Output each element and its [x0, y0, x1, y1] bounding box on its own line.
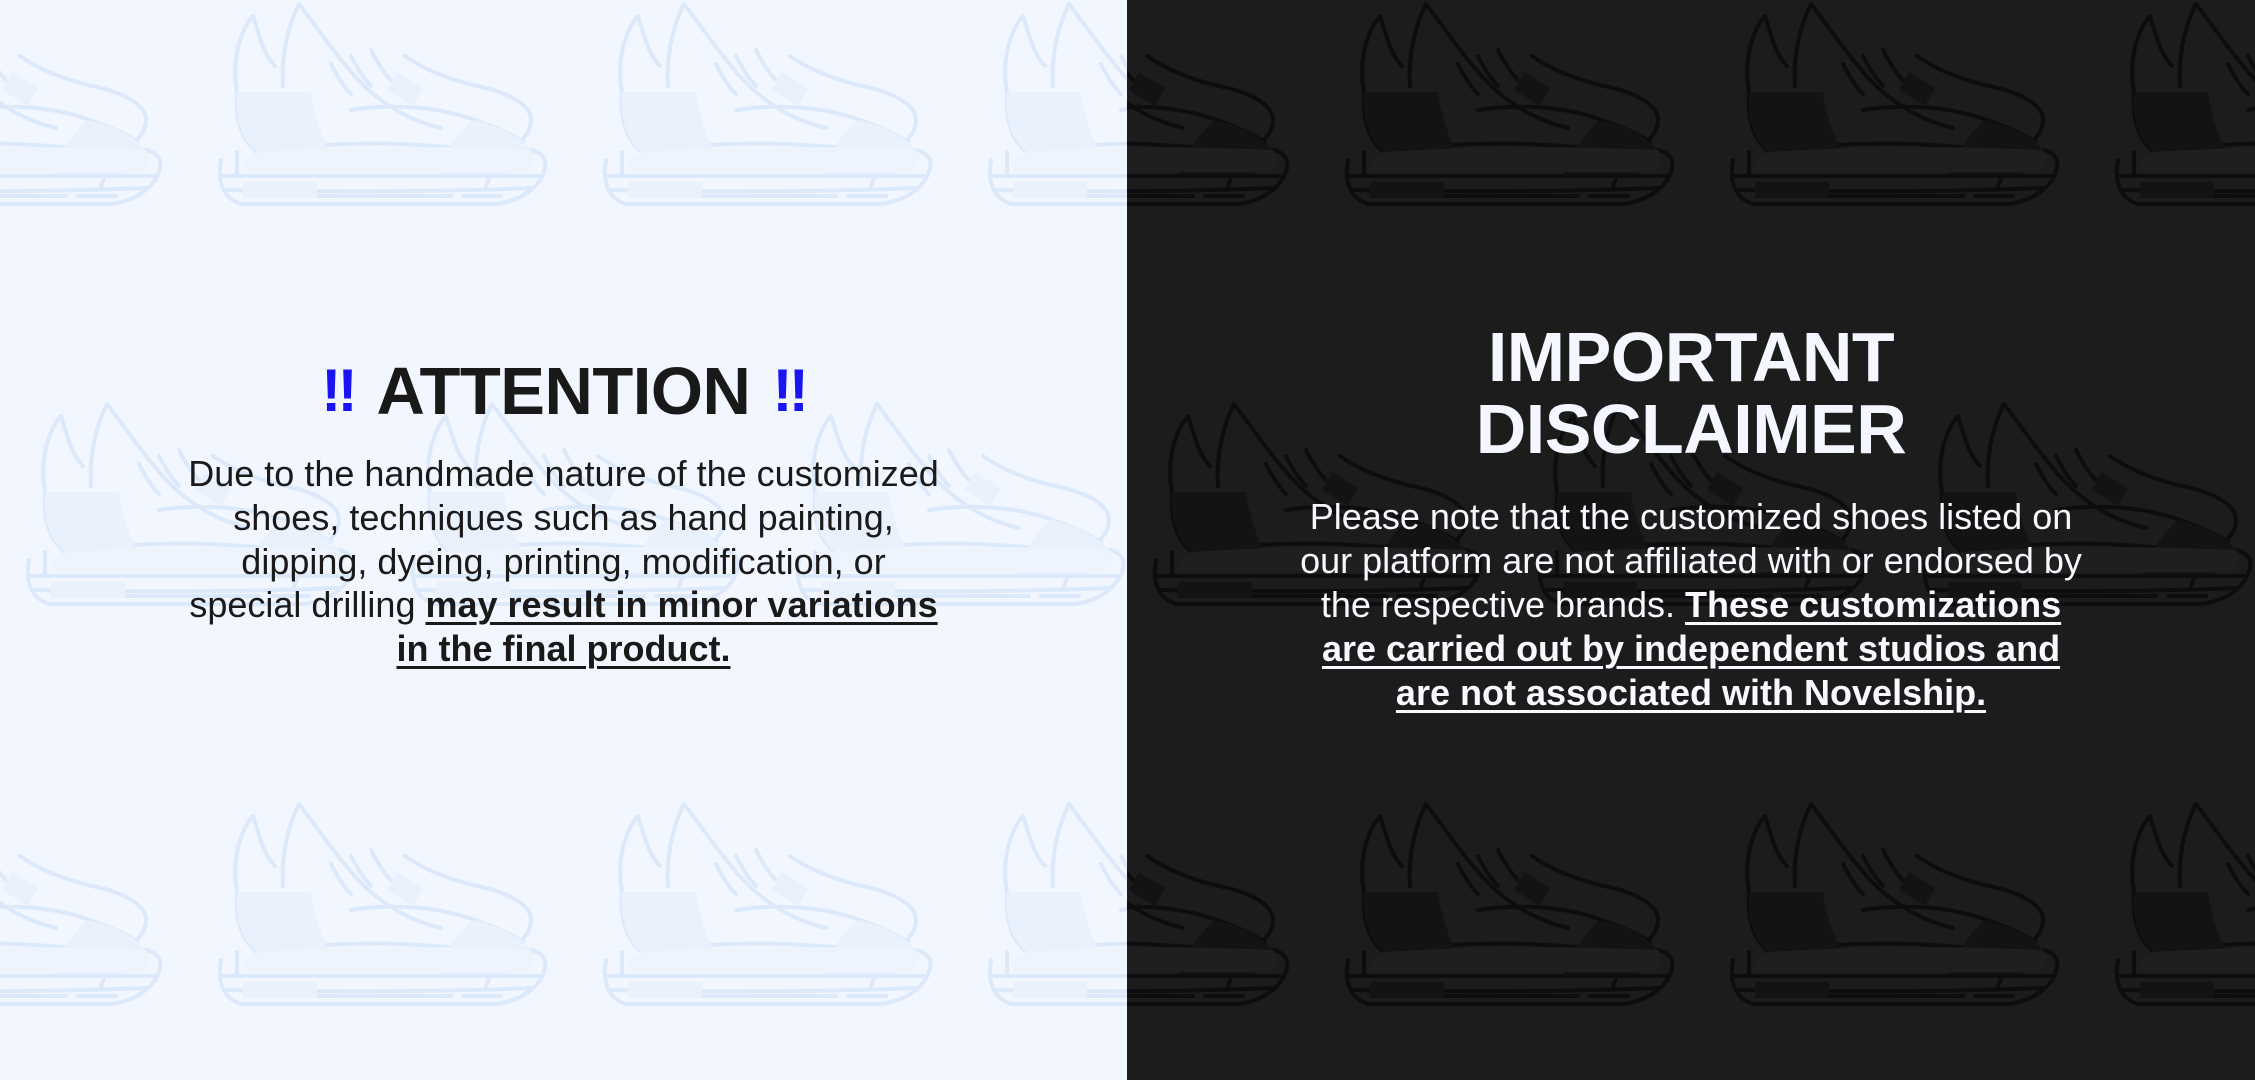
- sneaker-icon: [580, 680, 965, 1080]
- disclaimer-panel: IMPORTANTDISCLAIMER Please note that the…: [1127, 0, 2255, 1080]
- sneaker-icon: [1322, 0, 1707, 280]
- sneaker-icon: [1707, 680, 2092, 1080]
- disclaimer-content: IMPORTANTDISCLAIMER Please note that the…: [1291, 321, 2091, 715]
- disclaimer-banner: ‼ATTENTION‼ Due to the handmade nature o…: [0, 0, 2255, 1080]
- sneaker-icon: [1322, 680, 1707, 1080]
- sneaker-icon: [965, 0, 1127, 280]
- double-exclamation-right-icon: ‼: [772, 357, 805, 424]
- disclaimer-heading-line2: DISCLAIMER: [1476, 390, 1907, 468]
- attention-body: Due to the handmade nature of the custom…: [184, 452, 944, 672]
- attention-heading: ‼ATTENTION‼: [184, 357, 944, 426]
- double-exclamation-left-icon: ‼: [321, 357, 354, 424]
- disclaimer-heading-line1: IMPORTANT: [1488, 318, 1894, 396]
- sneaker-icon: [1127, 280, 1130, 680]
- sneaker-icon: [0, 280, 3, 680]
- sneaker-icon: [965, 680, 1127, 1080]
- sneaker-icon: [195, 0, 580, 280]
- sneaker-icon: [195, 680, 580, 1080]
- sneaker-icon: [0, 680, 195, 1080]
- sneaker-icon: [2092, 0, 2255, 280]
- attention-content: ‼ATTENTION‼ Due to the handmade nature o…: [184, 357, 944, 672]
- disclaimer-body: Please note that the customized shoes li…: [1291, 495, 2091, 715]
- attention-heading-text: ATTENTION: [377, 354, 751, 429]
- sneaker-icon: [1707, 0, 2092, 280]
- sneaker-icon: [0, 0, 195, 280]
- attention-panel: ‼ATTENTION‼ Due to the handmade nature o…: [0, 0, 1127, 1080]
- sneaker-icon: [1127, 0, 1322, 280]
- sneaker-icon: [2092, 680, 2255, 1080]
- disclaimer-heading: IMPORTANTDISCLAIMER: [1291, 321, 2091, 465]
- attention-body-emphasis: may result in minor variations in the fi…: [397, 584, 938, 669]
- sneaker-icon: [580, 0, 965, 280]
- sneaker-icon: [1127, 680, 1322, 1080]
